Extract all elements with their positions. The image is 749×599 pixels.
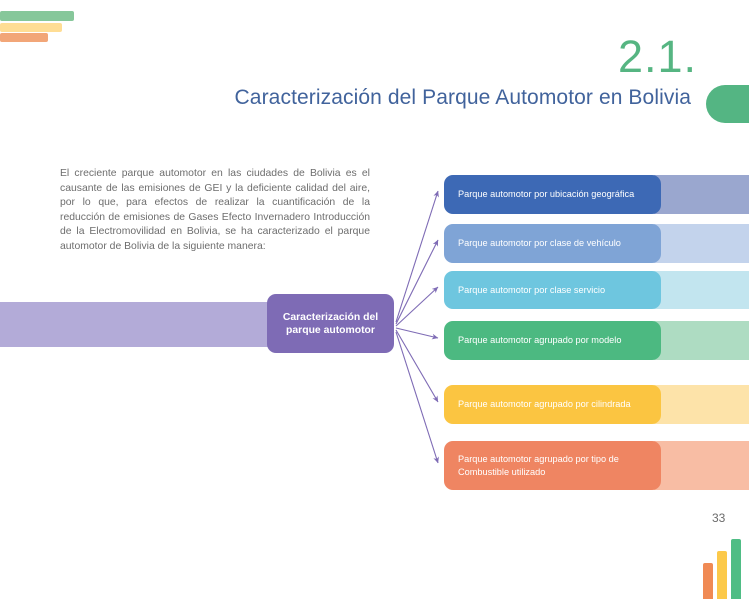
branch-box-1[interactable]: Parque automotor por ubicación geográfic… (444, 175, 661, 214)
foot-bar-green (731, 539, 741, 599)
intro-paragraph: El creciente parque automotor en las ciu… (60, 167, 370, 255)
branch-row: Parque automotor por clase servicio (444, 271, 749, 309)
deco-bar-orange (0, 33, 48, 42)
foot-bar-orange (703, 563, 713, 599)
page-number: 33 (712, 511, 725, 525)
branch-box-2[interactable]: Parque automotor por clase de vehículo (444, 224, 661, 263)
arrow-to-branch-2 (396, 240, 438, 324)
center-node-track (0, 302, 290, 347)
arrow-to-branch-5 (396, 330, 438, 402)
branch-box-6[interactable]: Parque automotor agrupado por tipo de Co… (444, 441, 661, 490)
arrow-to-branch-1 (396, 191, 438, 322)
header-accent-pill (706, 85, 749, 123)
branch-row: Parque automotor por ubicación geográfic… (444, 175, 749, 214)
branch-label: Parque automotor por clase servicio (458, 284, 605, 297)
branch-row: Parque automotor por clase de vehículo (444, 224, 749, 263)
branch-tail (654, 271, 749, 309)
center-node[interactable]: Caracterización del parque automotor (267, 294, 394, 353)
page-title: Caracterización del Parque Automotor en … (0, 86, 691, 110)
branch-box-4[interactable]: Parque automotor agrupado por modelo (444, 321, 661, 360)
slide: 2.1. Caracterización del Parque Automoto… (0, 0, 749, 599)
center-node-label: Caracterización del parque automotor (277, 311, 384, 337)
branch-label: Parque automotor por clase de vehículo (458, 237, 621, 250)
branch-tail (654, 385, 749, 424)
branch-label: Parque automotor agrupado por modelo (458, 334, 621, 347)
foot-bar-yellow (717, 551, 727, 599)
branch-label: Parque automotor agrupado por tipo de Co… (458, 453, 647, 478)
section-number: 2.1. (618, 34, 697, 79)
branch-row: Parque automotor agrupado por modelo (444, 321, 749, 360)
branch-label: Parque automotor agrupado por cilindrada (458, 398, 631, 411)
arrow-to-branch-4 (396, 328, 438, 338)
arrow-to-branch-3 (396, 287, 438, 326)
branch-box-5[interactable]: Parque automotor agrupado por cilindrada (444, 385, 661, 424)
branch-label: Parque automotor por ubicación geográfic… (458, 188, 634, 201)
arrow-to-branch-6 (396, 332, 438, 463)
branch-tail (654, 321, 749, 360)
branch-box-3[interactable]: Parque automotor por clase servicio (444, 271, 661, 309)
deco-bar-yellow (0, 23, 62, 32)
branch-tail (654, 175, 749, 214)
branch-tail (654, 441, 749, 490)
branch-row: Parque automotor agrupado por cilindrada (444, 385, 749, 424)
deco-bar-green (0, 11, 74, 21)
branch-row: Parque automotor agrupado por tipo de Co… (444, 441, 749, 490)
branch-tail (654, 224, 749, 263)
